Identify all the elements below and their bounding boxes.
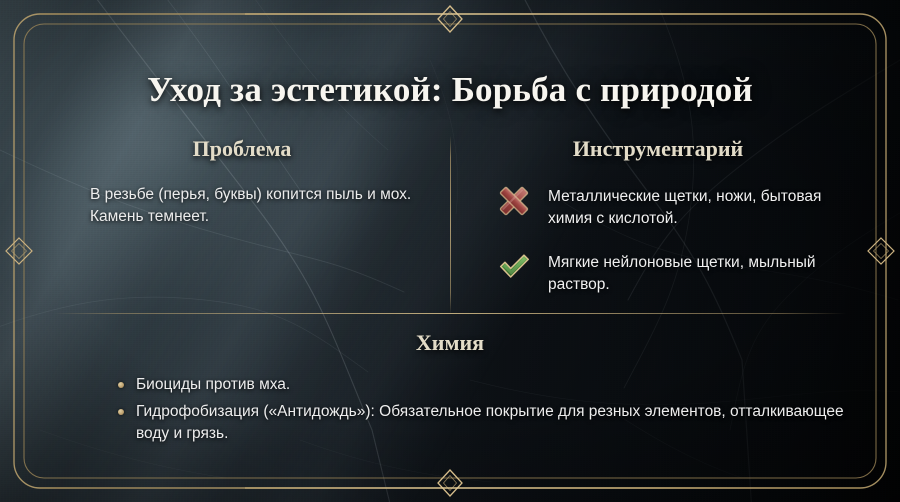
page-title: Уход за эстетикой: Борьба с природой: [0, 71, 900, 110]
list-item: Гидрофобизация («Антидождь»): Обязательн…: [118, 401, 846, 445]
tool-row-forbidden: Металлические щетки, ножи, бытовая химия…: [494, 184, 846, 230]
chemistry-section: Химия Биоциды против мха. Гидрофобизация…: [54, 330, 846, 450]
chemistry-heading: Химия: [54, 330, 846, 356]
tools-heading: Инструментарий: [470, 136, 846, 162]
tools-column: Инструментарий: [452, 136, 846, 312]
problem-column: Проблема В резьбе (перья, буквы) копится…: [54, 136, 452, 312]
problem-heading: Проблема: [54, 136, 430, 162]
green-check-icon: [494, 248, 534, 286]
tool-row-recommended: Мягкие нейлоновые щетки, мыльный раствор…: [494, 250, 846, 296]
slide-canvas: Уход за эстетикой: Борьба с природой Про…: [0, 0, 900, 502]
chemistry-bullet-list: Биоциды против мха. Гидрофобизация («Ант…: [54, 374, 846, 445]
slide-content: Уход за эстетикой: Борьба с природой Про…: [0, 0, 900, 502]
tool-forbidden-text: Металлические щетки, ножи, бытовая химия…: [548, 184, 846, 230]
list-item-label: Гидрофобизация («Антидождь»): Обязательн…: [136, 403, 844, 442]
list-item-label: Биоциды против мха.: [136, 376, 290, 393]
list-item: Биоциды против мха.: [118, 374, 846, 396]
bullet-dot-icon: [118, 382, 124, 388]
problem-text: В резьбе (перья, буквы) копится пыль и м…: [54, 184, 430, 229]
bullet-dot-icon: [118, 409, 124, 415]
two-column-area: Проблема В резьбе (перья, буквы) копится…: [54, 136, 846, 312]
red-x-icon: [494, 182, 534, 220]
section-divider: [54, 313, 846, 314]
tool-recommended-text: Мягкие нейлоновые щетки, мыльный раствор…: [548, 250, 846, 296]
